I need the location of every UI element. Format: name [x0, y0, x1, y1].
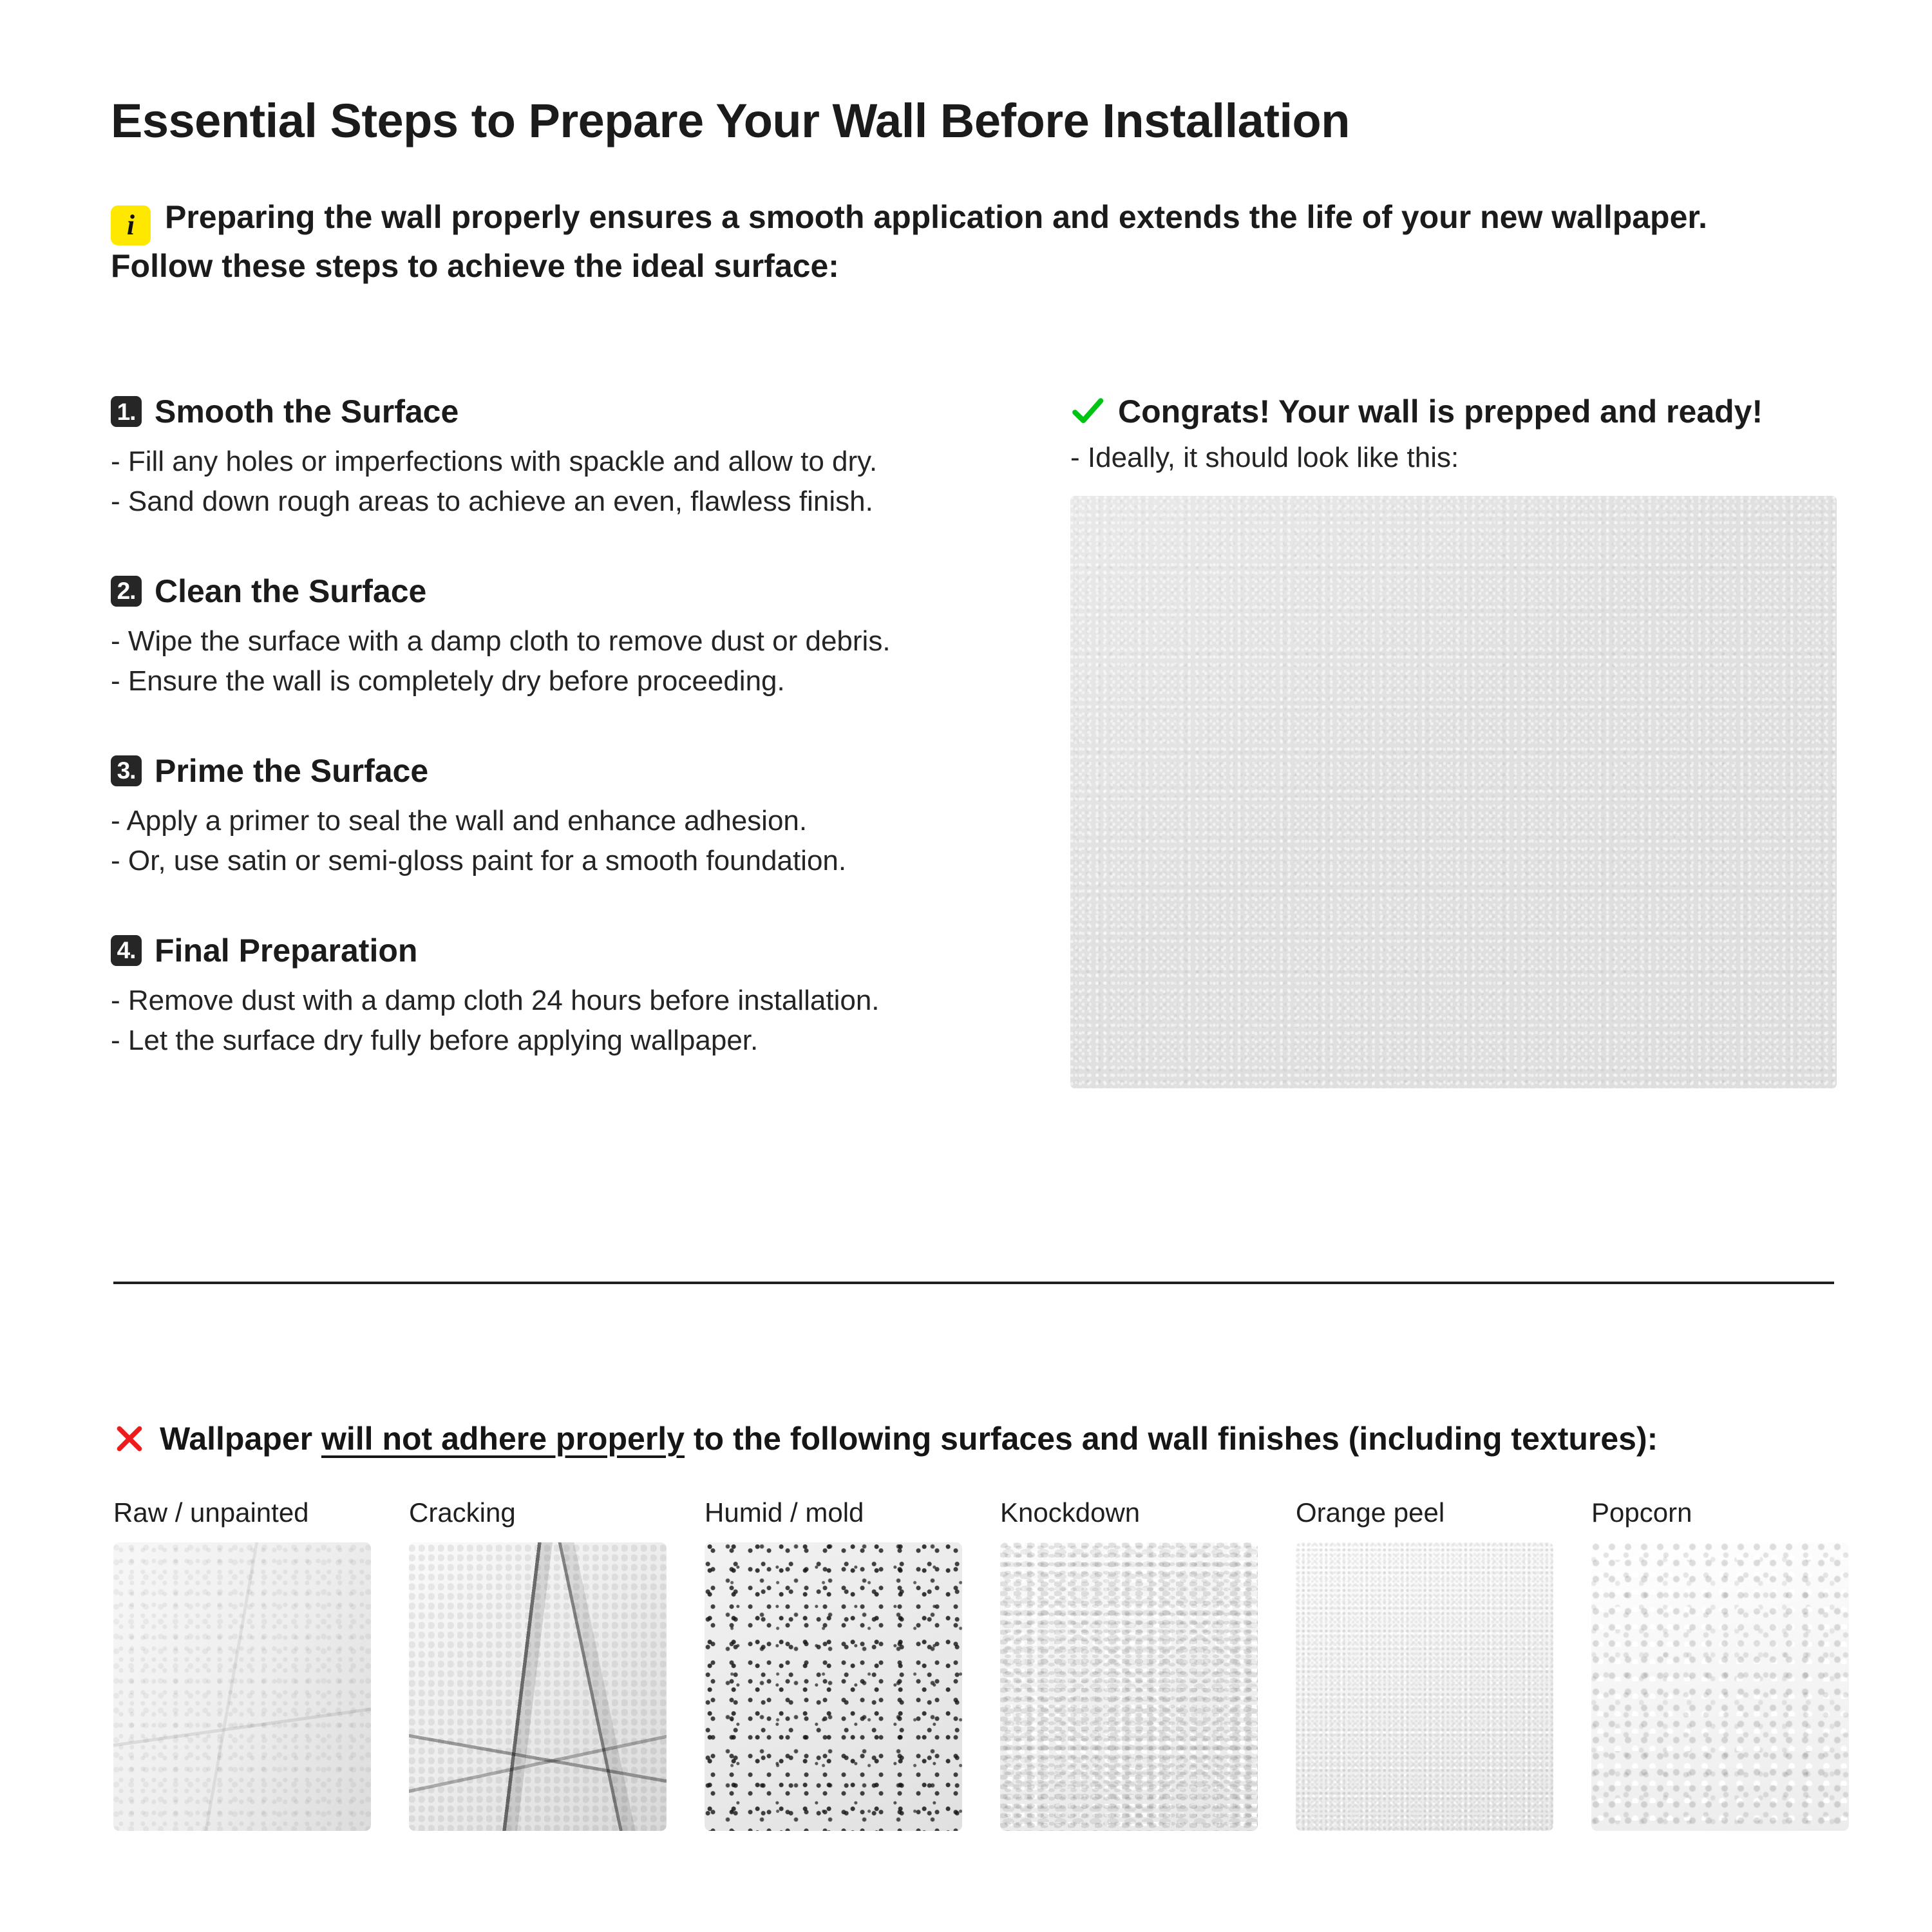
- step-item-3: 3. Prime the Surface - Apply a primer to…: [111, 752, 1051, 882]
- step-number-badge-2: 2.: [111, 576, 142, 607]
- steps-column: 1. Smooth the Surface - Fill any holes o…: [111, 393, 1051, 1061]
- surface-sample-label-popcorn: Popcorn: [1591, 1497, 1849, 1528]
- congrats-subtext: - Ideally, it should look like this:: [1070, 442, 1837, 474]
- step-2-body: - Wipe the surface with a damp cloth to …: [111, 621, 1051, 702]
- warning-text: Wallpaper will not adhere properly to th…: [160, 1420, 1658, 1457]
- wall-prep-infographic: Essential Steps to Prepare Your Wall Bef…: [0, 0, 1932, 1932]
- step-number-badge-3: 3.: [111, 755, 142, 786]
- section-divider: [113, 1282, 1834, 1284]
- surface-texture-image-knockdown: [1000, 1542, 1258, 1831]
- surface-sample-mold: Humid / mold: [705, 1497, 962, 1831]
- intro-line-1: Preparing the wall properly ensures a sm…: [165, 199, 1707, 235]
- warning-heading: Wallpaper will not adhere properly to th…: [113, 1420, 1658, 1457]
- step-3-line-2: - Or, use satin or semi-gloss paint for …: [111, 841, 1051, 881]
- congrats-text: Congrats! Your wall is prepped and ready…: [1118, 393, 1763, 430]
- step-2-heading-row: 2. Clean the Surface: [111, 573, 1051, 610]
- step-3-line-1: - Apply a primer to seal the wall and en…: [111, 801, 1051, 841]
- surface-sample-cracking: Cracking: [409, 1497, 667, 1831]
- surface-sample-label-cracking: Cracking: [409, 1497, 667, 1528]
- step-number-badge-1: 1.: [111, 396, 142, 427]
- step-item-2: 2. Clean the Surface - Wipe the surface …: [111, 573, 1051, 702]
- step-4-heading-row: 4. Final Preparation: [111, 932, 1051, 969]
- bad-surface-samples: Raw / unpainted Cracking Humid / mold Kn…: [113, 1497, 1849, 1831]
- warning-text-after: to the following surfaces and wall finis…: [685, 1421, 1658, 1457]
- step-2-line-1: - Wipe the surface with a damp cloth to …: [111, 621, 1051, 661]
- congrats-heading-row: Congrats! Your wall is prepped and ready…: [1070, 393, 1837, 430]
- step-3-title: Prime the Surface: [155, 752, 428, 790]
- step-1-line-1: - Fill any holes or imperfections with s…: [111, 442, 1051, 482]
- step-1-body: - Fill any holes or imperfections with s…: [111, 442, 1051, 522]
- surface-sample-label-knockdown: Knockdown: [1000, 1497, 1258, 1528]
- surface-texture-image-cracking: [409, 1542, 667, 1831]
- congrats-column: Congrats! Your wall is prepped and ready…: [1070, 393, 1837, 1088]
- step-4-body: - Remove dust with a damp cloth 24 hours…: [111, 981, 1051, 1061]
- surface-texture-image-mold: [705, 1542, 962, 1831]
- surface-texture-image-orange-peel: [1296, 1542, 1553, 1831]
- check-icon: [1070, 394, 1105, 429]
- surface-sample-label-raw: Raw / unpainted: [113, 1497, 371, 1528]
- step-3-body: - Apply a primer to seal the wall and en…: [111, 801, 1051, 882]
- x-icon: [113, 1423, 146, 1455]
- info-icon: i: [111, 205, 151, 245]
- step-4-line-1: - Remove dust with a damp cloth 24 hours…: [111, 981, 1051, 1021]
- warning-text-underlined: will not adhere properly: [321, 1421, 685, 1457]
- step-item-4: 4. Final Preparation - Remove dust with …: [111, 932, 1051, 1061]
- surface-sample-knockdown: Knockdown: [1000, 1497, 1258, 1831]
- prepped-wall-image: [1070, 496, 1837, 1088]
- step-1-title: Smooth the Surface: [155, 393, 459, 430]
- surface-sample-raw: Raw / unpainted: [113, 1497, 371, 1831]
- surface-sample-label-orange-peel: Orange peel: [1296, 1497, 1553, 1528]
- step-item-1: 1. Smooth the Surface - Fill any holes o…: [111, 393, 1051, 522]
- surface-sample-label-mold: Humid / mold: [705, 1497, 962, 1528]
- step-3-heading-row: 3. Prime the Surface: [111, 752, 1051, 790]
- surface-sample-popcorn: Popcorn: [1591, 1497, 1849, 1831]
- step-1-heading-row: 1. Smooth the Surface: [111, 393, 1051, 430]
- surface-texture-image-popcorn: [1591, 1542, 1849, 1831]
- surface-sample-orange-peel: Orange peel: [1296, 1497, 1553, 1831]
- step-4-title: Final Preparation: [155, 932, 417, 969]
- step-2-line-2: - Ensure the wall is completely dry befo…: [111, 661, 1051, 701]
- intro-line-2: Follow these steps to achieve the ideal …: [111, 248, 839, 284]
- surface-texture-image-raw: [113, 1542, 371, 1831]
- intro-paragraph: iPreparing the wall properly ensures a s…: [111, 196, 1837, 287]
- step-number-badge-4: 4.: [111, 935, 142, 966]
- step-2-title: Clean the Surface: [155, 573, 426, 610]
- warning-text-before: Wallpaper: [160, 1421, 321, 1457]
- step-1-line-2: - Sand down rough areas to achieve an ev…: [111, 482, 1051, 522]
- page-title: Essential Steps to Prepare Your Wall Bef…: [111, 93, 1350, 148]
- step-4-line-2: - Let the surface dry fully before apply…: [111, 1021, 1051, 1061]
